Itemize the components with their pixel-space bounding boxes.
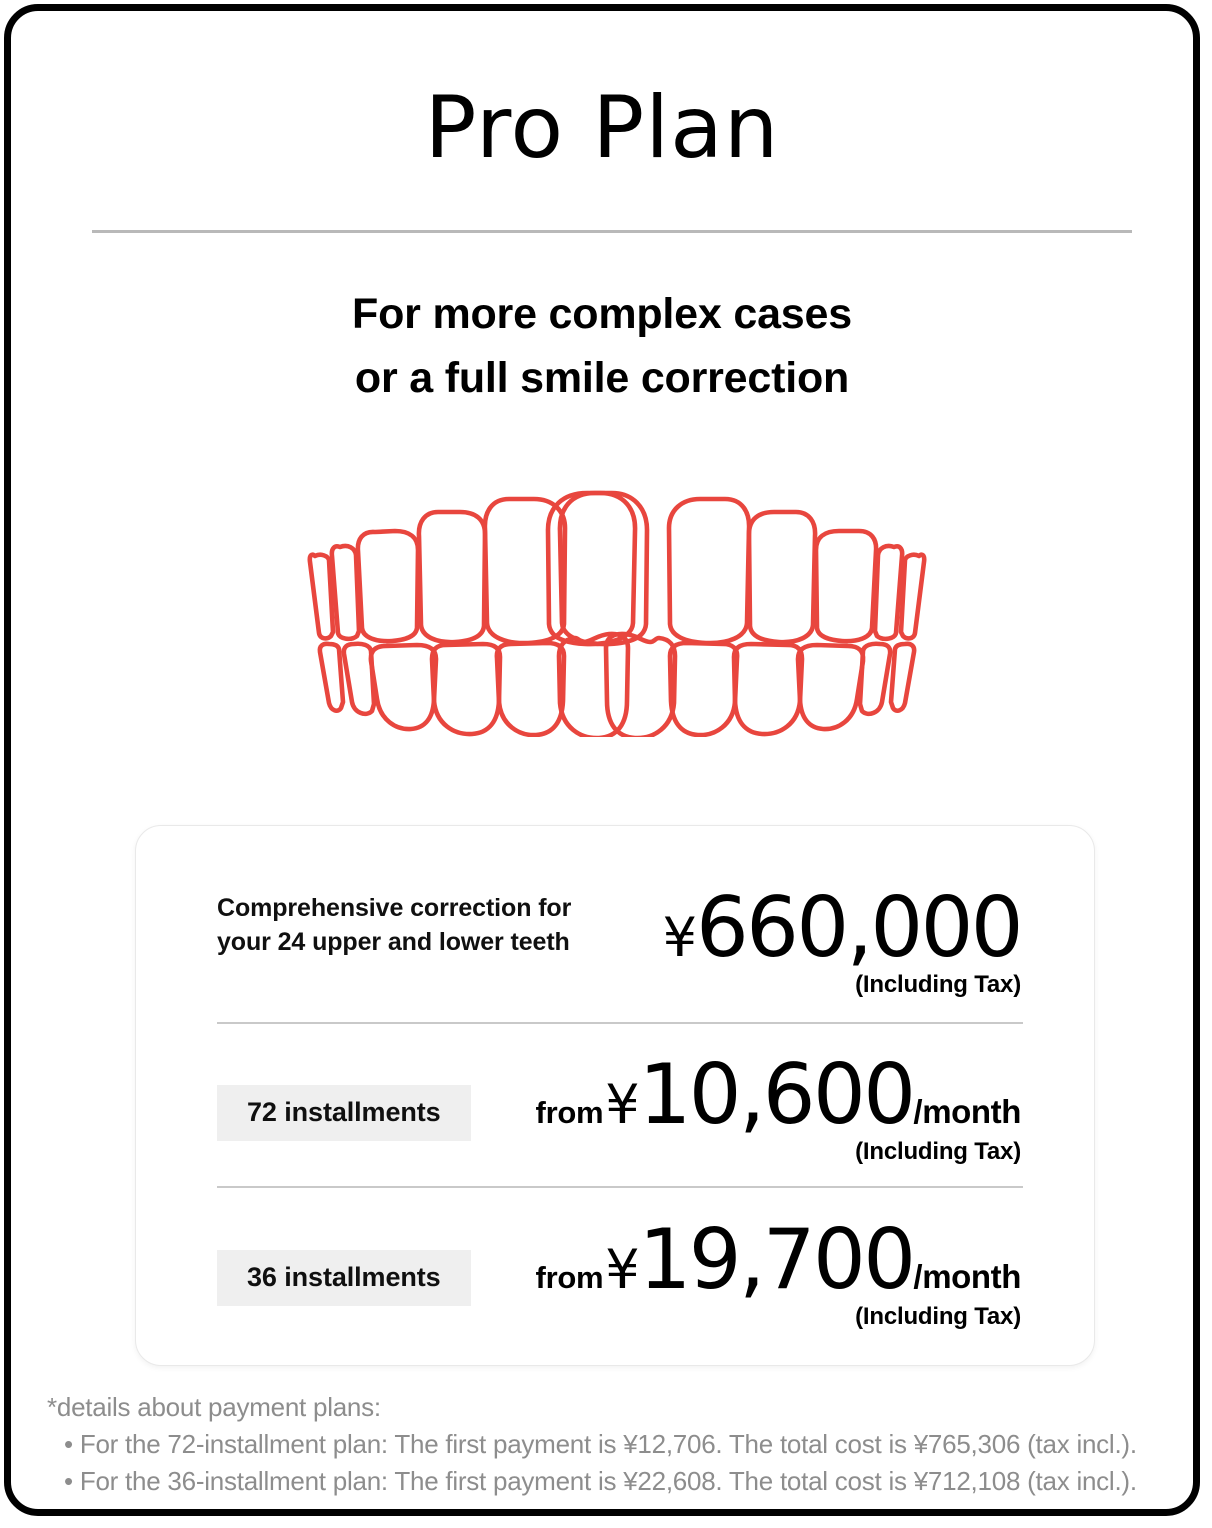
page-title: Pro Plan (11, 83, 1193, 173)
price-amount: 660,000 (696, 886, 1021, 969)
footnotes: *details about payment plans: • For the … (47, 1389, 1187, 1500)
price-line: ¥ 660,000 (663, 886, 1021, 969)
yen-symbol: ¥ (663, 906, 696, 969)
price-amount: 19,700 (639, 1218, 914, 1301)
price-line: from ¥ 19,700 /month (536, 1218, 1021, 1301)
pricing-row-72-installments: 72 installments from ¥ 10,600 /month (In… (136, 1043, 1094, 1207)
pricing-row-amount-block: ¥ 660,000 (Including Tax) (663, 886, 1021, 999)
yen-symbol: ¥ (605, 1238, 638, 1301)
price-prefix-from: from (536, 1095, 606, 1131)
pricing-row-total: Comprehensive correction for your 24 upp… (136, 878, 1094, 1042)
footnote-heading: *details about payment plans: (47, 1389, 1187, 1426)
price-suffix-per-month: /month (913, 1093, 1021, 1131)
price-amount: 10,600 (639, 1053, 914, 1136)
pricing-row-label-line-2: your 24 upper and lower teeth (217, 926, 617, 960)
pricing-row-amount-block: from ¥ 19,700 /month (Including Tax) (536, 1218, 1021, 1331)
pricing-row-label: Comprehensive correction for your 24 upp… (217, 892, 617, 959)
pricing-card: Comprehensive correction for your 24 upp… (135, 825, 1095, 1366)
plan-subtitle-line-2: or a full smile correction (11, 347, 1193, 411)
title-divider (92, 230, 1132, 233)
footnote-item-72: • For the 72-installment plan: The first… (47, 1426, 1187, 1463)
plan-subtitle-line-1: For more complex cases (11, 283, 1193, 347)
teeth-arches-illustration (307, 487, 927, 737)
price-line: from ¥ 10,600 /month (536, 1053, 1021, 1136)
price-suffix-per-month: /month (913, 1258, 1021, 1296)
plan-subtitle: For more complex cases or a full smile c… (11, 283, 1193, 410)
installments-badge-36: 36 installments (217, 1250, 471, 1306)
plan-card-frame: Pro Plan For more complex cases or a ful… (4, 4, 1200, 1516)
price-prefix-from: from (536, 1260, 606, 1296)
pricing-row-36-installments: 36 installments from ¥ 19,700 /month (In… (136, 1208, 1094, 1372)
footnote-item-36: • For the 36-installment plan: The first… (47, 1463, 1187, 1500)
yen-symbol: ¥ (605, 1073, 638, 1136)
pricing-row-amount-block: from ¥ 10,600 /month (Including Tax) (536, 1053, 1021, 1166)
installments-badge-72: 72 installments (217, 1085, 471, 1141)
pricing-row-label-line-1: Comprehensive correction for (217, 892, 617, 926)
